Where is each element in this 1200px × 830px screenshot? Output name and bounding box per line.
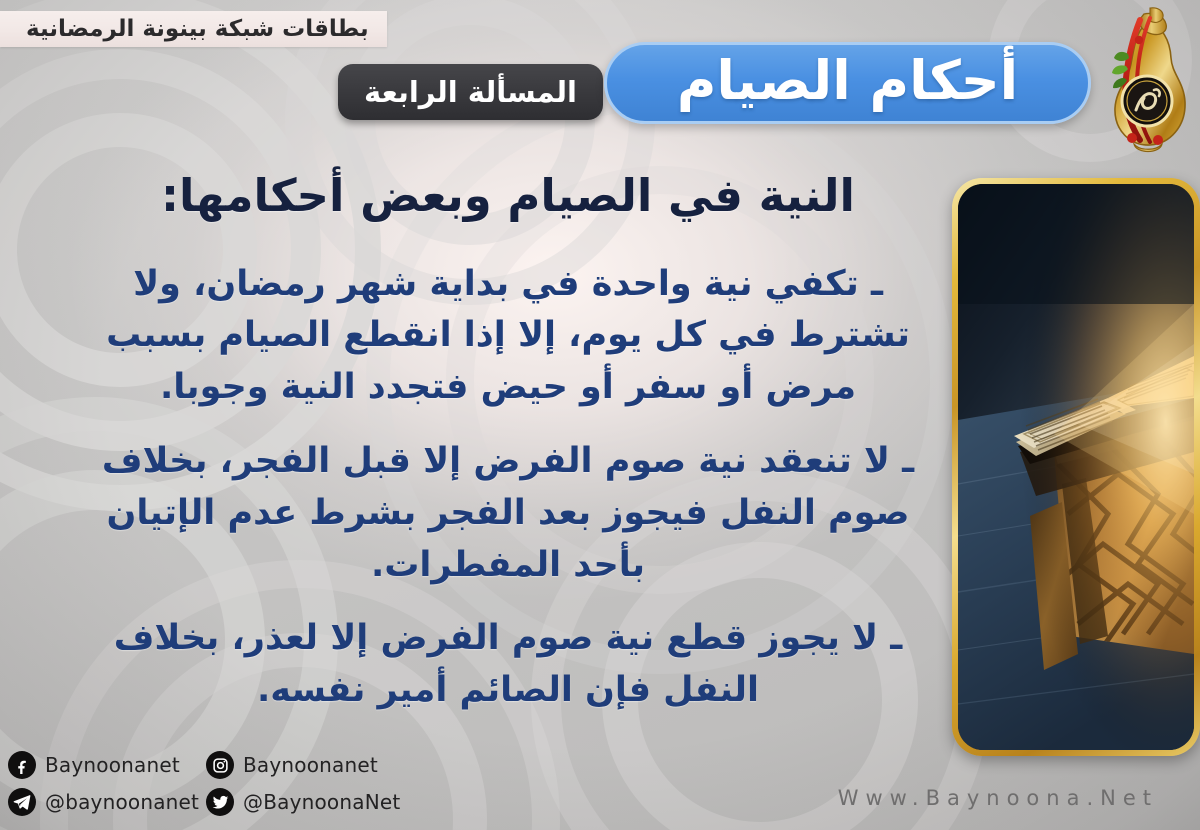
social-item-facebook[interactable]: Baynoonanet xyxy=(8,751,206,779)
content-column: النية في الصيام وبعض أحكامها: ـ تكفي نية… xyxy=(78,168,938,717)
instagram-icon xyxy=(206,751,234,779)
ruling-paragraph-1: ـ تكفي نية واحدة في بداية شهر رمضان، ولا… xyxy=(78,259,938,414)
title-banner: أحكام الصيام xyxy=(604,42,1091,124)
instagram-handle: Baynoonanet xyxy=(243,753,378,777)
social-item-telegram[interactable]: @baynoonanet xyxy=(8,788,206,816)
baynoona-lantern-logo-icon xyxy=(1092,6,1196,158)
facebook-icon xyxy=(8,751,36,779)
top-label-text: بطاقات شبكة بينونة الرمضانية xyxy=(26,16,369,42)
title-banner-text: أحكام الصيام xyxy=(677,49,1018,112)
twitter-icon xyxy=(206,788,234,816)
infographic-card: بطاقات شبكة بينونة الرمضانية المسألة الر… xyxy=(0,0,1200,830)
ruling-paragraph-2: ـ لا تنعقد نية صوم الفرض إلا قبل الفجر، … xyxy=(78,436,938,591)
social-links: Baynoonanet Baynoonanet xyxy=(8,751,400,816)
quran-photo-frame xyxy=(952,178,1200,756)
page-title: النية في الصيام وبعض أحكامها: xyxy=(78,168,938,225)
website-url: Www.Baynoona.Net xyxy=(838,786,1158,810)
social-item-twitter[interactable]: @BaynoonaNet xyxy=(206,788,400,816)
social-row-1: Baynoonanet Baynoonanet xyxy=(8,751,400,779)
social-item-instagram[interactable]: Baynoonanet xyxy=(206,751,378,779)
quran-photo xyxy=(958,184,1194,750)
quran-photo-illustration xyxy=(958,184,1194,750)
twitter-handle: @BaynoonaNet xyxy=(243,790,400,814)
telegram-icon xyxy=(8,788,36,816)
section-number-pill: المسألة الرابعة xyxy=(338,64,603,120)
telegram-handle: @baynoonanet xyxy=(45,790,199,814)
social-row-2: @baynoonanet @BaynoonaNet xyxy=(8,788,400,816)
ruling-paragraph-3: ـ لا يجوز قطع نية صوم الفرض إلا لعذر، بخ… xyxy=(78,613,938,717)
section-number-text: المسألة الرابعة xyxy=(364,75,577,109)
facebook-handle: Baynoonanet xyxy=(45,753,180,777)
top-label-banner: بطاقات شبكة بينونة الرمضانية xyxy=(0,11,387,47)
